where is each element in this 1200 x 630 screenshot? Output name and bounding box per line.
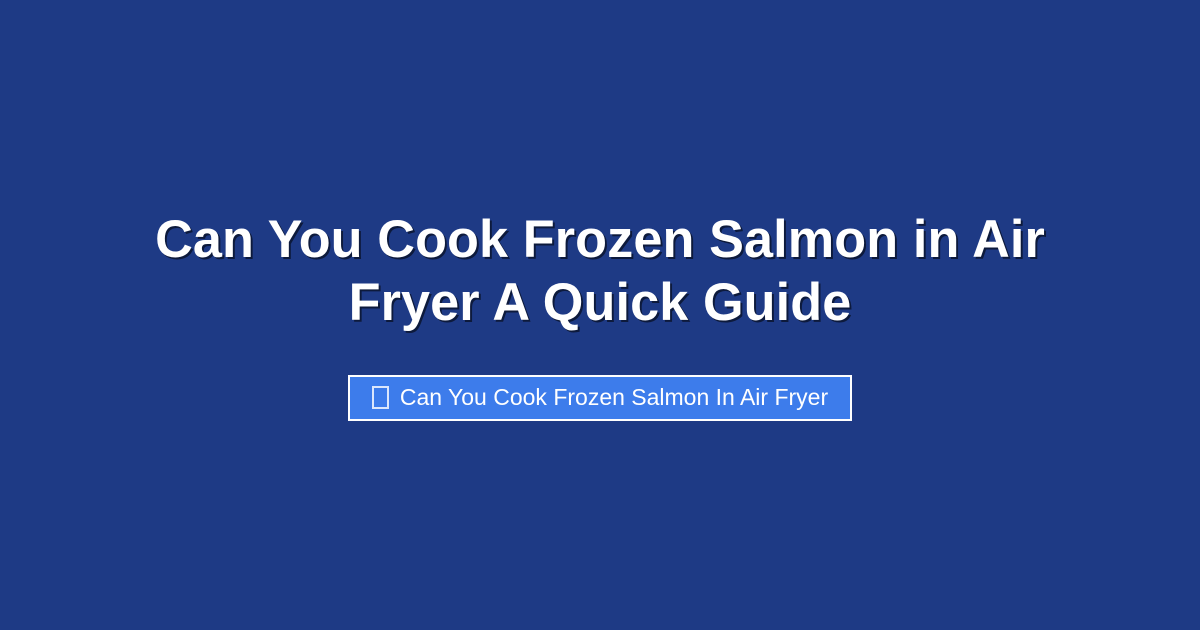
missing-glyph-box-icon (372, 386, 389, 409)
cta-button-label: Can You Cook Frozen Salmon In Air Fryer (400, 386, 828, 409)
cta-button[interactable]: Can You Cook Frozen Salmon In Air Fryer (348, 375, 852, 421)
page-title: Can You Cook Frozen Salmon in Air Fryer … (127, 209, 1073, 334)
card-content: Can You Cook Frozen Salmon in Air Fryer … (0, 0, 1200, 630)
social-card: Can You Cook Frozen Salmon in Air Fryer … (0, 0, 1200, 630)
cta-container: Can You Cook Frozen Salmon In Air Fryer (100, 375, 1100, 421)
